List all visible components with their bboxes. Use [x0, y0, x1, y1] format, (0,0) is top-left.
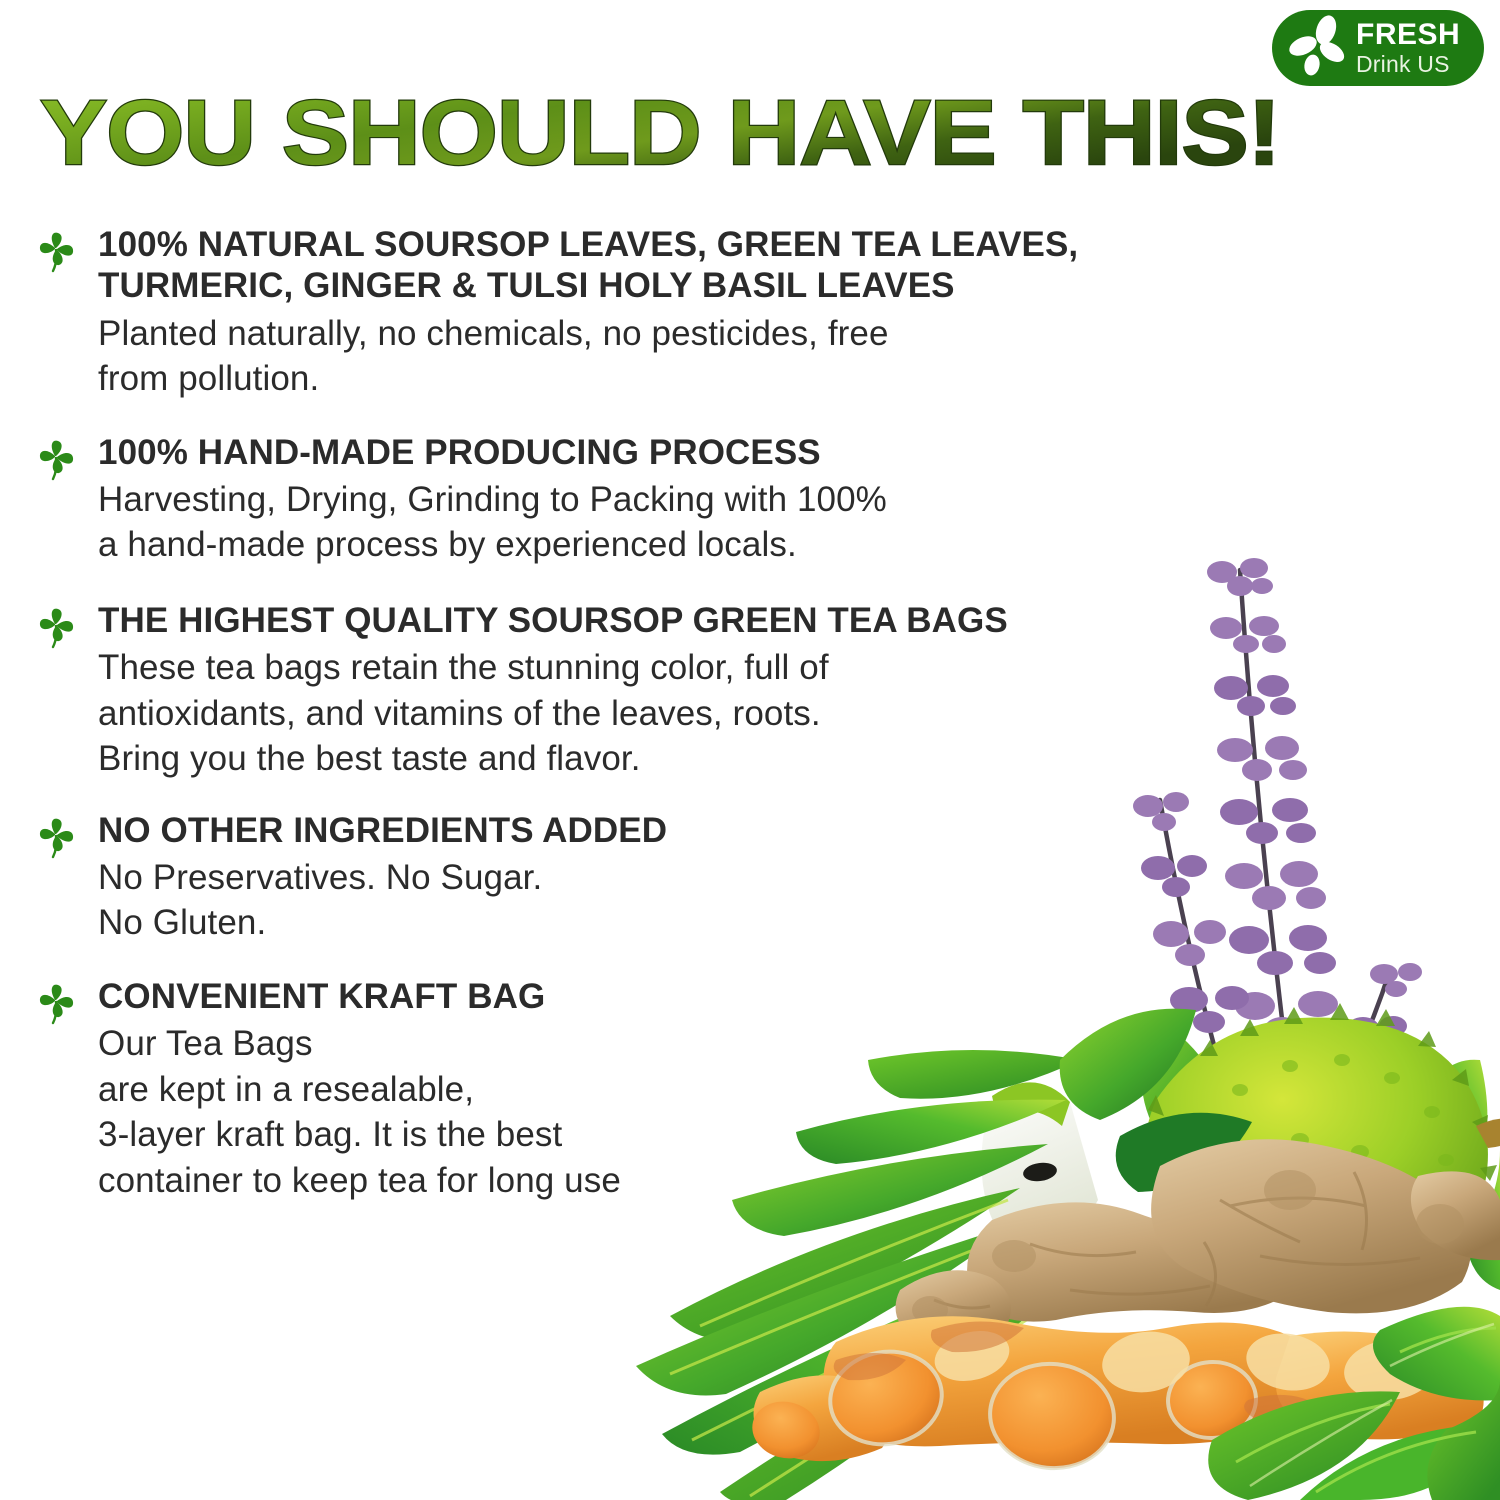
brand-badge: FRESH Drink US [1272, 10, 1484, 86]
feature-title: CONVENIENT KRAFT BAG [98, 976, 1220, 1017]
brand-name-bottom: Drink US [1356, 53, 1460, 76]
feature-list: 100% NATURAL SOURSOP LEAVES, GREEN TEA L… [30, 224, 1220, 1203]
feature-body: These tea bags retain the stunning color… [98, 645, 1220, 782]
feature-body: No Preservatives. No Sugar. No Gluten. [98, 855, 1220, 946]
turmeric-root-slices [746, 1316, 1483, 1474]
brand-name-top: FRESH [1356, 20, 1460, 50]
feature-natural-ingredients: 100% NATURAL SOURSOP LEAVES, GREEN TEA L… [30, 224, 1220, 402]
feature-body: Our Tea Bags are kept in a resealable, 3… [98, 1021, 1220, 1203]
feature-title: 100% HAND-MADE PRODUCING PROCESS [98, 432, 1220, 473]
feature-title: 100% NATURAL SOURSOP LEAVES, GREEN TEA L… [98, 224, 1220, 307]
infographic-page: FRESH Drink US YOU SHOULD HAVE THIS! [0, 0, 1500, 1500]
four-petal-leaf-icon [1286, 15, 1352, 82]
four-leaf-clover-icon [34, 228, 80, 274]
feature-body: Harvesting, Drying, Grinding to Packing … [98, 477, 1220, 568]
four-leaf-clover-icon [34, 604, 80, 650]
feature-title: NO OTHER INGREDIENTS ADDED [98, 810, 1220, 851]
four-leaf-clover-icon [34, 814, 80, 860]
four-leaf-clover-icon [34, 980, 80, 1026]
feature-no-other-ingredients: NO OTHER INGREDIENTS ADDED No Preservati… [30, 810, 1220, 946]
feature-highest-quality-bags: THE HIGHEST QUALITY SOURSOP GREEN TEA BA… [30, 600, 1220, 782]
feature-hand-made-process: 100% HAND-MADE PRODUCING PROCESS Harvest… [30, 432, 1220, 568]
feature-body: Planted naturally, no chemicals, no pest… [98, 311, 1220, 402]
feature-title: THE HIGHEST QUALITY SOURSOP GREEN TEA BA… [98, 600, 1220, 641]
feature-convenient-kraft-bag: CONVENIENT KRAFT BAG Our Tea Bags are ke… [30, 976, 1220, 1203]
page-title: YOU SHOULD HAVE THIS! [40, 92, 1280, 176]
page-title-text: YOU SHOULD HAVE THIS! [40, 82, 1280, 184]
four-leaf-clover-icon [34, 436, 80, 482]
green-tea-leaves-front [1208, 1307, 1500, 1500]
